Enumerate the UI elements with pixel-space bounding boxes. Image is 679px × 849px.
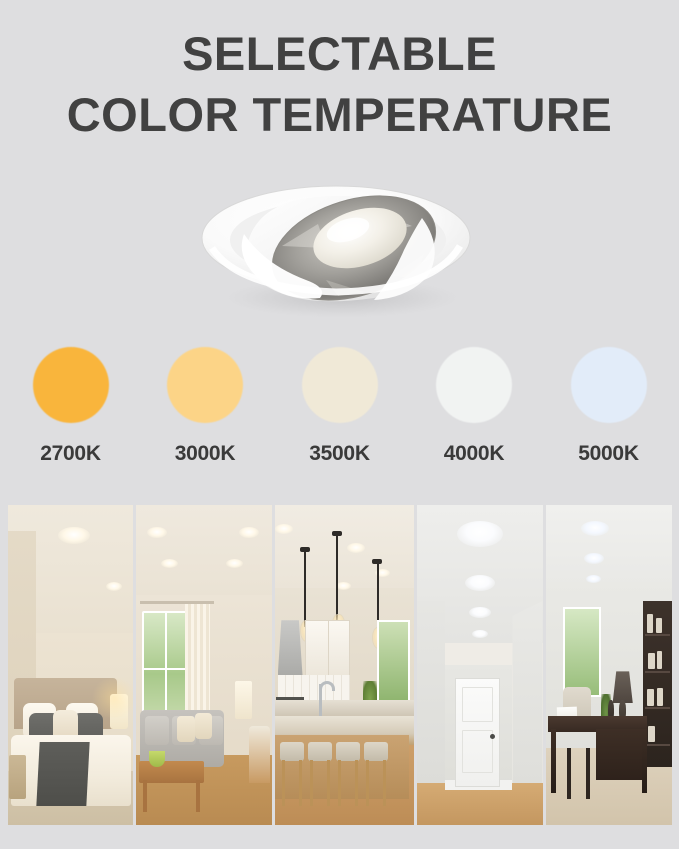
office-scene [546,505,672,825]
chair-leg-left [567,748,571,799]
door-panel-lower [462,730,493,773]
pendant-cap-3 [372,559,382,564]
bedroom-downlight-2 [106,582,122,591]
hallway-door[interactable] [455,678,500,787]
downlight-illustration [178,176,498,326]
coffee-table-leg-left [143,780,147,812]
bar-stool-4 [364,742,388,806]
panel-bedroom [8,505,133,825]
swatch-dot-3500k[interactable] [302,347,378,423]
bookshelf-item [648,726,654,743]
office-bookshelf [643,601,672,767]
sofa-throw-pillow-1 [177,716,195,742]
bedroom-lamp-glow [90,678,133,718]
stool-leg [383,760,386,806]
panel-hallway [417,505,542,825]
bookshelf-shelf [645,744,671,746]
livingroom-scene [136,505,271,825]
panel-kitchen [275,505,414,825]
swatch-label-3500k: 3500K [309,442,369,466]
panel-office [546,505,672,825]
product-image-stage [0,168,679,338]
pendant-cap-2 [332,531,342,536]
stool-seat [308,742,332,761]
bookshelf-item [657,651,662,669]
kitchen-scene [275,505,414,825]
pendant-cord-1 [304,550,306,627]
office-downlight-1 [581,521,609,536]
kitchen-range-hood [278,620,303,678]
hallway-downlight-2 [465,575,495,591]
pendant-cap-1 [300,547,310,552]
chair-leg-right [586,748,590,799]
hallway-right-wall [512,601,542,787]
panel-livingroom [136,505,271,825]
swatch-dot-4000k[interactable] [436,347,512,423]
livingroom-side-chair [249,726,271,784]
swatch-2700k[interactable]: 2700K [8,347,133,466]
cabinet-divider [328,621,329,677]
swatch-dot-3000k[interactable] [167,347,243,423]
recessed-downlight-product-image [178,176,498,326]
office-window [563,607,601,697]
office-downlight-2 [584,553,604,564]
kitchen-downlight-4 [336,582,351,590]
kitchen-counter [275,700,414,716]
stool-leg [338,760,341,806]
stool-seat [364,742,388,761]
bedroom-scene [8,505,133,825]
swatch-label-3000k: 3000K [175,442,235,466]
desk-leg-left [551,729,556,793]
bar-stool-3 [336,742,360,806]
sofa-cushion-left [145,716,169,745]
window-mullion-horizontal [142,668,188,670]
infographic-page: SELECTABLE COLOR TEMPERATURE [0,0,679,849]
bed-runner [36,742,90,806]
office-window-glass [565,609,599,695]
stool-leg [355,760,358,806]
swatch-5000k[interactable]: 5000K [546,347,671,466]
livingroom-coffee-table [139,761,204,783]
bedroom-nightstand [9,755,25,800]
swatch-dot-2700k[interactable] [33,347,109,423]
hallway-downlight-4 [472,630,488,638]
color-temperature-swatch-row: 2700K 3000K 3500K 4000K 5000K [8,347,671,472]
bookshelf-item [648,653,656,670]
door-panel-upper [462,687,493,721]
office-desk-drawers [596,729,647,780]
title-line-1: SELECTABLE [0,30,679,77]
livingroom-floor-lamp [235,681,251,719]
kitchen-faucet [319,684,322,719]
stool-leg [366,760,369,806]
page-title: SELECTABLE COLOR TEMPERATURE [0,30,679,138]
swatch-3000k[interactable]: 3000K [143,347,268,466]
kitchen-upper-cabinets [305,620,350,678]
bookshelf-item [647,689,654,706]
door-knob[interactable] [490,734,495,739]
stool-leg [310,760,313,806]
bookshelf-item [657,688,663,706]
stool-leg [282,760,285,806]
stool-leg [299,760,302,806]
coffee-table-leg-right [196,780,200,812]
kitchen-window-glass [379,622,408,701]
sofa-throw-pillow-2 [195,713,213,739]
livingroom-window [142,611,188,726]
swatch-label-4000k: 4000K [444,442,504,466]
swatch-3500k[interactable]: 3500K [277,347,402,466]
hallway-flush-light-1 [457,521,503,547]
swatch-label-5000k: 5000K [578,442,638,466]
stool-seat [336,742,360,761]
kitchen-window [377,620,410,703]
bookshelf-shelf [645,634,671,636]
stool-leg [327,760,330,806]
desk-leg-right [642,729,647,793]
bookshelf-item [656,618,661,633]
bar-stool-1 [280,742,304,806]
swatch-4000k[interactable]: 4000K [412,347,537,466]
hallway-left-wall [417,601,445,787]
swatch-label-2700k: 2700K [40,442,100,466]
swatch-dot-5000k[interactable] [571,347,647,423]
bar-stool-2 [308,742,332,806]
pendant-cord-2 [336,534,338,620]
bookshelf-shelf [645,707,671,709]
title-line-2: COLOR TEMPERATURE [0,91,679,138]
hallway-scene [417,505,542,825]
bookshelf-shelf [645,671,671,673]
hallway-downlight-3 [469,607,491,618]
bookshelf-item [647,614,653,632]
stool-seat [280,742,304,761]
window-glass [144,613,186,724]
room-scene-photo-strip [8,505,672,825]
